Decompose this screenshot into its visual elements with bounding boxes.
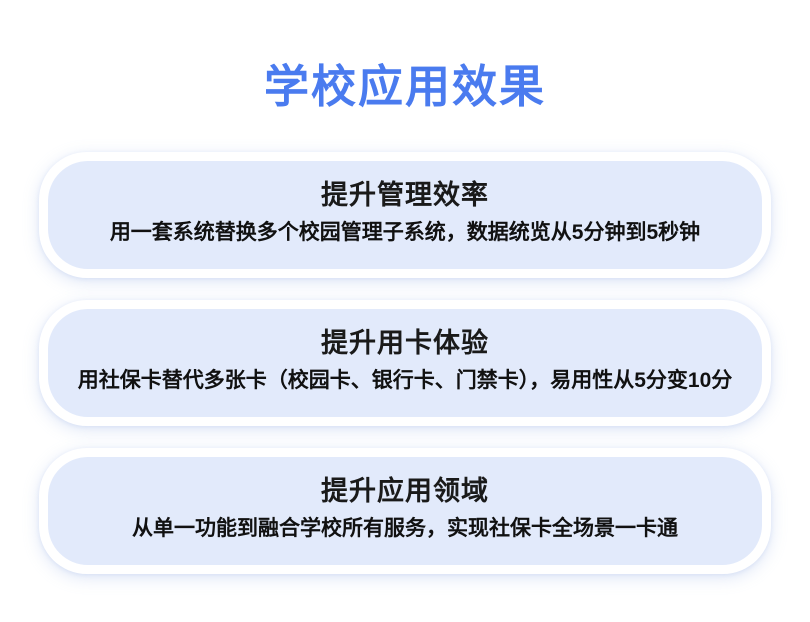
effect-card-2-title: 提升用卡体验 xyxy=(74,325,736,361)
effect-card-1-ring: 提升管理效率 用一套系统替换多个校园管理子系统，数据统览从5分钟到5秒钟 xyxy=(39,152,771,278)
school-application-effect-page: 学校应用效果 提升管理效率 用一套系统替换多个校园管理子系统，数据统览从5分钟到… xyxy=(0,0,810,622)
effect-card-1-wrapper: 提升管理效率 用一套系统替换多个校园管理子系统，数据统览从5分钟到5秒钟 xyxy=(39,152,771,278)
effect-card-3-ring: 提升应用领域 从单一功能到融合学校所有服务，实现社保卡全场景一卡通 xyxy=(39,448,771,574)
page-title: 学校应用效果 xyxy=(0,58,810,116)
effect-card-2-description: 用社保卡替代多张卡（校园卡、银行卡、门禁卡），易用性从5分变10分 xyxy=(74,365,736,397)
effect-card-1-description: 用一套系统替换多个校园管理子系统，数据统览从5分钟到5秒钟 xyxy=(74,217,736,249)
effect-card-2-wrapper: 提升用卡体验 用社保卡替代多张卡（校园卡、银行卡、门禁卡），易用性从5分变10分 xyxy=(39,300,771,426)
effect-card-2-ring: 提升用卡体验 用社保卡替代多张卡（校园卡、银行卡、门禁卡），易用性从5分变10分 xyxy=(39,300,771,426)
effect-card-1: 提升管理效率 用一套系统替换多个校园管理子系统，数据统览从5分钟到5秒钟 xyxy=(48,161,762,269)
effect-card-list: 提升管理效率 用一套系统替换多个校园管理子系统，数据统览从5分钟到5秒钟 提升用… xyxy=(39,152,771,574)
effect-card-1-title: 提升管理效率 xyxy=(74,177,736,213)
effect-card-3: 提升应用领域 从单一功能到融合学校所有服务，实现社保卡全场景一卡通 xyxy=(48,457,762,565)
effect-card-3-title: 提升应用领域 xyxy=(74,473,736,509)
effect-card-3-description: 从单一功能到融合学校所有服务，实现社保卡全场景一卡通 xyxy=(74,513,736,545)
effect-card-2: 提升用卡体验 用社保卡替代多张卡（校园卡、银行卡、门禁卡），易用性从5分变10分 xyxy=(48,309,762,417)
effect-card-3-wrapper: 提升应用领域 从单一功能到融合学校所有服务，实现社保卡全场景一卡通 xyxy=(39,448,771,574)
